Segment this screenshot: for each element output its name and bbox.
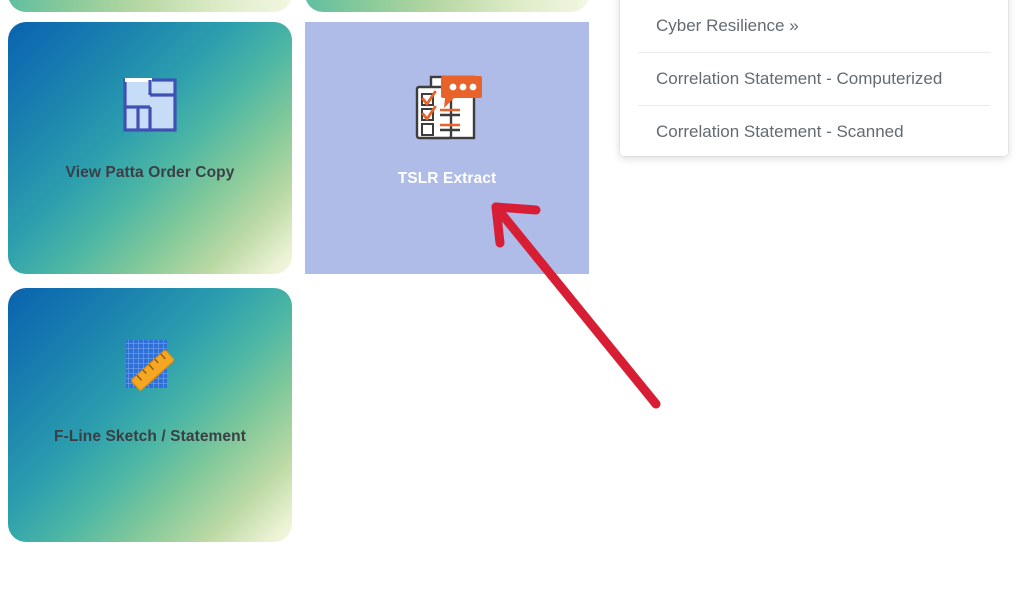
menu-item-cyber-resilience[interactable]: Cyber Resilience »	[620, 0, 1008, 52]
menu-item-correlation-statement-scanned[interactable]: Correlation Statement - Scanned	[620, 106, 1008, 156]
screen-canvas: View Patta Order Copy	[0, 0, 1024, 609]
checklist-chat-icon	[410, 74, 484, 144]
floor-plan-icon	[119, 74, 181, 136]
menu-item-label: Correlation Statement - Scanned	[656, 122, 904, 142]
card-label: TSLR Extract	[305, 170, 589, 188]
card-view-patta-order-copy[interactable]: View Patta Order Copy	[8, 22, 292, 274]
grid-ruler-icon	[118, 338, 182, 398]
card-f-line-sketch-statement[interactable]: F-Line Sketch / Statement	[8, 288, 292, 542]
menu-item-label: Cyber Resilience »	[656, 16, 799, 36]
menu-item-correlation-statement-computerized[interactable]: Correlation Statement - Computerized	[620, 53, 1008, 105]
partial-card-left[interactable]	[8, 0, 292, 12]
card-label: View Patta Order Copy	[8, 164, 292, 182]
menu-item-label: Correlation Statement - Computerized	[656, 69, 942, 89]
card-tslr-extract[interactable]: TSLR Extract	[305, 22, 589, 274]
partial-card-right[interactable]	[305, 0, 589, 12]
card-label: F-Line Sketch / Statement	[8, 428, 292, 446]
dropdown-menu-panel: Cyber Resilience » Correlation Statement…	[620, 0, 1008, 156]
